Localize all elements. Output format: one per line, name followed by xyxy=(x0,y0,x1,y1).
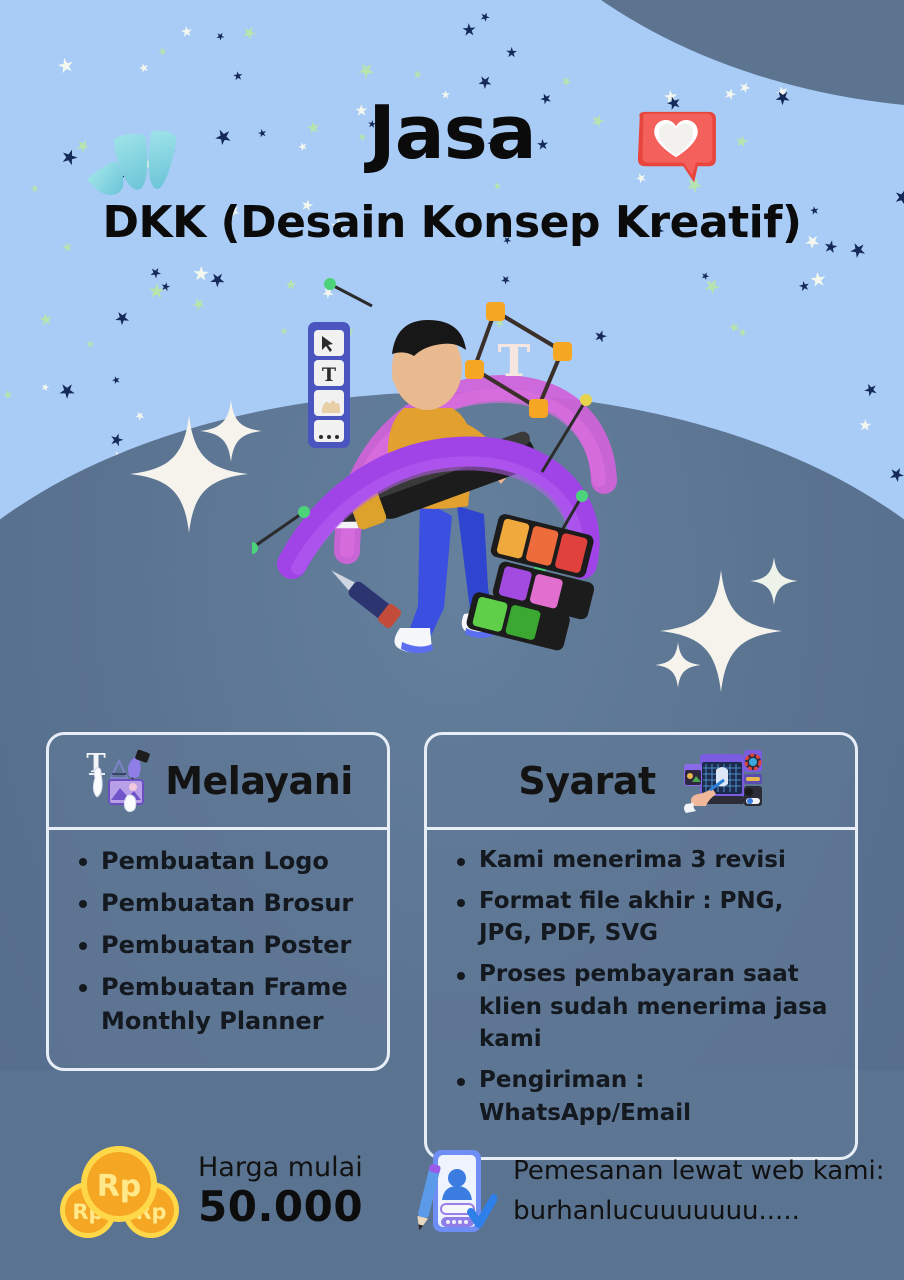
card-melayani: T Melayani xyxy=(46,732,390,1071)
svg-text:Rp: Rp xyxy=(97,1169,142,1204)
list-item: Pembuatan Logo xyxy=(75,844,369,878)
contact-group: Pemesanan lewat web kami: burhanlucuuuuu… xyxy=(411,1142,884,1242)
sparkle-icon-small-right xyxy=(655,640,701,690)
star-icon xyxy=(503,45,519,61)
star-icon xyxy=(85,339,97,351)
card-melayani-body: Pembuatan Logo Pembuatan Brosur Pembuata… xyxy=(49,830,387,1068)
star-icon xyxy=(807,270,829,292)
heart-badge-icon xyxy=(630,110,722,188)
syarat-list: Kami menerima 3 revisi Format file akhir… xyxy=(453,844,841,1129)
card-syarat-header: Syarat xyxy=(427,735,855,827)
card-syarat-body: Kami menerima 3 revisi Format file akhir… xyxy=(427,830,855,1157)
card-syarat-title: Syarat xyxy=(518,759,655,803)
star-icon xyxy=(110,374,122,386)
star-icon xyxy=(858,418,874,434)
poster: Jasa DKK (Desain Konsep Kreatif) T xyxy=(0,0,904,1280)
list-item: Pembuatan Frame Monthly Planner xyxy=(75,970,369,1038)
star-icon xyxy=(156,45,168,57)
star-icon xyxy=(738,81,752,95)
star-icon xyxy=(215,30,227,42)
list-item: Proses pembayaran saat klien sudah mener… xyxy=(453,958,841,1056)
rupiah-coins-icon: Rp Rp Rp xyxy=(56,1140,182,1244)
star-icon xyxy=(178,24,195,41)
star-icon xyxy=(147,265,162,280)
design-tools-icon: T xyxy=(83,748,155,814)
sparkle-icon-top-right xyxy=(750,555,798,607)
star-icon xyxy=(886,464,904,485)
star-icon xyxy=(2,389,15,402)
list-item: Kami menerima 3 revisi xyxy=(453,844,841,877)
star-icon xyxy=(239,23,258,42)
contact-website: burhanlucuuuuuuu..... xyxy=(513,1191,884,1233)
registration-form-icon xyxy=(411,1142,497,1242)
card-syarat: Syarat xyxy=(424,732,858,1160)
star-icon xyxy=(160,281,171,292)
card-melayani-header: T Melayani xyxy=(49,735,387,827)
list-item: Pembuatan Poster xyxy=(75,928,369,962)
contact-text: Pemesanan lewat web kami: burhanlucuuuuu… xyxy=(513,1152,884,1233)
design-software-icon xyxy=(680,746,764,816)
designer-character-illustration: T T xyxy=(252,276,652,676)
star-icon xyxy=(478,10,492,24)
star-icon xyxy=(55,55,78,78)
contact-heading: Pemesanan lewat web kami: xyxy=(513,1152,884,1191)
star-icon xyxy=(559,74,574,89)
star-icon xyxy=(356,59,378,81)
star-icon xyxy=(412,68,425,81)
star-icon xyxy=(233,71,244,82)
page-subtitle: DKK (Desain Konsep Kreatif) xyxy=(0,200,904,246)
star-icon xyxy=(189,294,209,314)
price-text: Harga mulai 50.000 xyxy=(198,1153,363,1231)
star-icon xyxy=(460,21,477,38)
star-icon xyxy=(37,311,56,330)
star-icon xyxy=(59,383,75,399)
price-label: Harga mulai xyxy=(198,1153,363,1183)
info-cards: T Melayani xyxy=(0,732,904,1160)
list-item: Pengiriman : WhatsApp/Email xyxy=(453,1064,841,1129)
page-title: Jasa xyxy=(0,96,904,170)
star-icon xyxy=(475,72,494,91)
star-icon xyxy=(115,311,130,326)
poster-header: Jasa DKK (Desain Konsep Kreatif) xyxy=(0,96,904,246)
poster-footer: Rp Rp Rp Harga mulai 50.000 xyxy=(0,1140,904,1244)
list-item: Pembuatan Brosur xyxy=(75,886,369,920)
svg-text:T: T xyxy=(498,336,531,387)
star-icon xyxy=(862,381,880,399)
card-melayani-title: Melayani xyxy=(165,759,353,803)
star-icon xyxy=(108,431,125,448)
price-value: 50.000 xyxy=(198,1183,363,1231)
star-icon xyxy=(40,382,50,392)
price-group: Rp Rp Rp Harga mulai 50.000 xyxy=(56,1140,363,1244)
melayani-list: Pembuatan Logo Pembuatan Brosur Pembuata… xyxy=(75,844,369,1038)
list-item: Format file akhir : PNG, JPG, PDF, SVG xyxy=(453,885,841,950)
star-icon xyxy=(137,60,151,74)
svg-text:T: T xyxy=(322,364,336,386)
